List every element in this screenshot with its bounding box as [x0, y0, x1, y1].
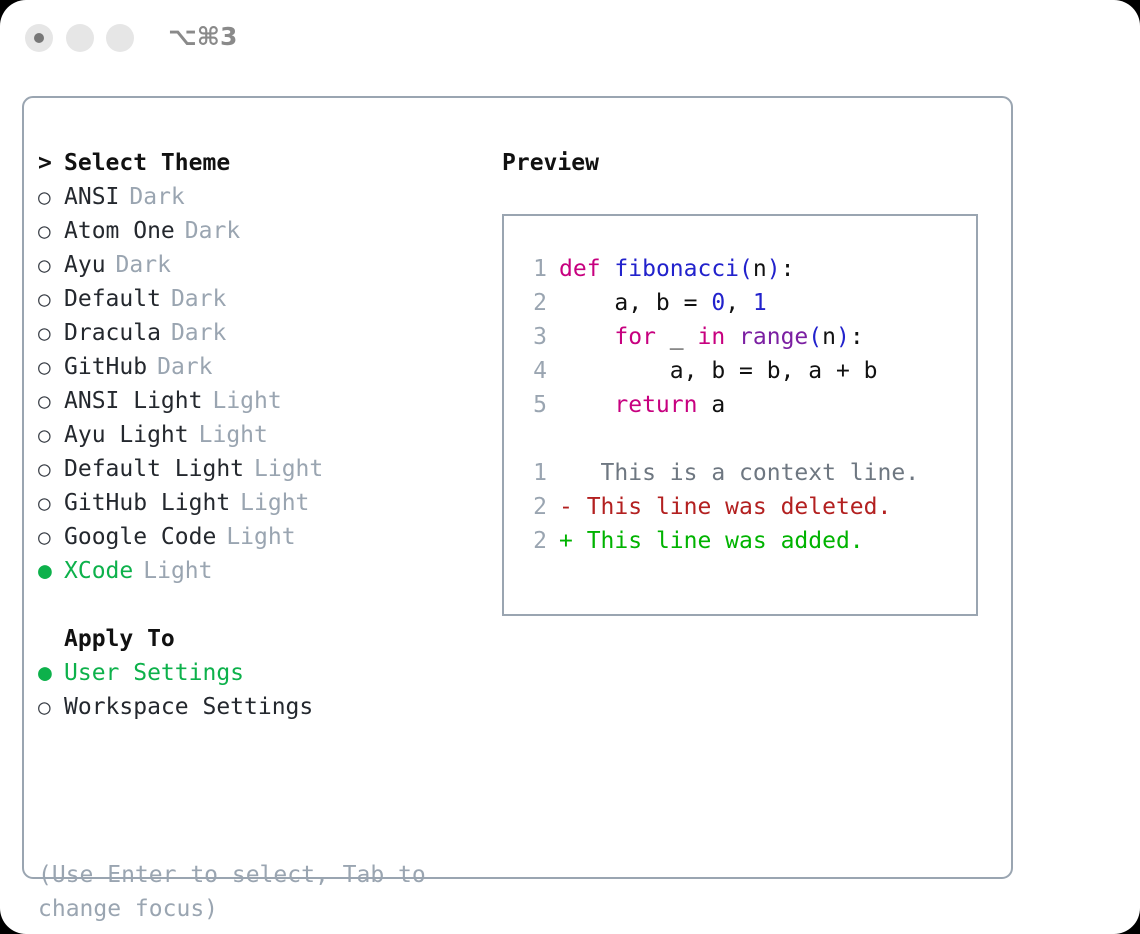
theme-variant-badge: Light: [199, 418, 268, 452]
code-token: for: [614, 324, 656, 350]
diff-text: This line was added.: [573, 524, 864, 558]
theme-name: ANSI: [64, 180, 119, 214]
theme-variant-badge: Light: [212, 384, 281, 418]
theme-variant-badge: Light: [226, 520, 295, 554]
radio-unselected-icon: ○: [38, 452, 64, 486]
theme-variant-badge: Dark: [129, 180, 184, 214]
theme-name: Dracula: [64, 316, 161, 350]
theme-option[interactable]: ○ANSIDark: [38, 180, 478, 214]
code-diff-gap: [504, 422, 976, 456]
code-token: a: [697, 392, 725, 418]
apply-to-indent: ○: [38, 622, 64, 656]
theme-option[interactable]: ○ANSI LightLight: [38, 384, 478, 418]
diff-sample: 1 This is a context line.2- This line wa…: [504, 456, 976, 558]
code-token: range: [739, 324, 808, 350]
code-token: a, b = b, a + b: [559, 358, 878, 384]
line-number: 1: [517, 252, 547, 286]
code-token: (: [808, 324, 822, 350]
code-token: :: [850, 324, 864, 350]
keyboard-hint-text: (Use Enter to select, Tab to change focu…: [38, 858, 458, 926]
apply-to-title: Apply To: [64, 622, 175, 656]
code-token: _: [656, 324, 698, 350]
theme-option[interactable]: ○Google CodeLight: [38, 520, 478, 554]
line-number: 1: [517, 456, 547, 490]
diff-line: 1 This is a context line.: [504, 456, 976, 490]
code-token: [725, 324, 739, 350]
diff-line: 2+ This line was added.: [504, 524, 976, 558]
theme-name: Ayu: [64, 248, 106, 282]
radio-unselected-icon: ○: [38, 520, 64, 554]
window-dot-third[interactable]: [106, 24, 134, 52]
radio-unselected-icon: ○: [38, 248, 64, 282]
preview-box: 1def fibonacci(n):2 a, b = 0, 13 for _ i…: [502, 214, 978, 616]
code-line: 2 a, b = 0, 1: [504, 286, 976, 320]
app-window: ⌥⌘3 > Select Theme ○ANSIDark○Atom OneDar…: [0, 0, 1140, 934]
theme-variant-badge: Dark: [171, 316, 226, 350]
radio-unselected-icon: ○: [38, 350, 64, 384]
code-text: for _ in range(n):: [559, 320, 864, 354]
apply-to-option[interactable]: ○Workspace Settings: [38, 690, 478, 724]
title-bar: ⌥⌘3: [0, 0, 1140, 78]
code-line: 3 for _ in range(n):: [504, 320, 976, 354]
theme-option[interactable]: ○GitHub LightLight: [38, 486, 478, 520]
diff-line: 2- This line was deleted.: [504, 490, 976, 524]
theme-option[interactable]: ○Ayu LightLight: [38, 418, 478, 452]
radio-unselected-icon: ○: [38, 180, 64, 214]
theme-name: ANSI Light: [64, 384, 202, 418]
code-token: [559, 324, 614, 350]
theme-option[interactable]: ○DefaultDark: [38, 282, 478, 316]
line-number: 3: [517, 320, 547, 354]
apply-to-header: ○ Apply To: [38, 622, 478, 656]
code-text: a, b = b, a + b: [559, 354, 878, 388]
theme-option[interactable]: ○DraculaDark: [38, 316, 478, 350]
diff-text: This line was deleted.: [573, 490, 892, 524]
theme-name: Default: [64, 282, 161, 316]
code-token: return: [614, 392, 697, 418]
theme-list: ○ANSIDark○Atom OneDark○AyuDark○DefaultDa…: [38, 180, 478, 588]
code-token: ): [767, 256, 781, 282]
theme-variant-badge: Light: [143, 554, 212, 588]
window-dot-active-inner: [34, 33, 44, 43]
line-number: 2: [517, 490, 547, 524]
theme-option[interactable]: ○Default LightLight: [38, 452, 478, 486]
apply-to-label: Workspace Settings: [64, 690, 313, 724]
theme-option[interactable]: ○GitHubDark: [38, 350, 478, 384]
diff-marker: [559, 456, 573, 490]
theme-variant-badge: Light: [254, 452, 323, 486]
radio-unselected-icon: ○: [38, 384, 64, 418]
theme-selector-column: > Select Theme ○ANSIDark○Atom OneDark○Ay…: [38, 146, 478, 724]
code-token: ): [836, 324, 850, 350]
code-token: n: [822, 324, 836, 350]
window-dot-second[interactable]: [66, 24, 94, 52]
line-number: 5: [517, 388, 547, 422]
radio-unselected-icon: ○: [38, 214, 64, 248]
theme-variant-badge: Dark: [185, 214, 240, 248]
code-token: fibonacci: [614, 256, 739, 282]
theme-option[interactable]: ○Atom OneDark: [38, 214, 478, 248]
code-token: (: [739, 256, 753, 282]
radio-selected-icon: ●: [38, 656, 64, 690]
code-line: 5 return a: [504, 388, 976, 422]
radio-unselected-icon: ○: [38, 690, 64, 724]
line-number: 2: [517, 286, 547, 320]
radio-unselected-icon: ○: [38, 316, 64, 350]
code-token: in: [697, 324, 725, 350]
code-token: 0: [711, 290, 725, 316]
code-token: [559, 392, 614, 418]
theme-option[interactable]: ●XCodeLight: [38, 554, 478, 588]
code-text: return a: [559, 388, 725, 422]
code-sample: 1def fibonacci(n):2 a, b = 0, 13 for _ i…: [504, 252, 976, 422]
code-line: 4 a, b = b, a + b: [504, 354, 976, 388]
diff-marker: +: [559, 524, 573, 558]
code-token: [601, 256, 615, 282]
theme-name: GitHub Light: [64, 486, 230, 520]
select-theme-header: > Select Theme: [38, 146, 478, 180]
apply-to-label: User Settings: [64, 656, 244, 690]
keyboard-shortcut-label: ⌥⌘3: [168, 22, 237, 51]
theme-name: XCode: [64, 554, 133, 588]
preview-title: Preview: [502, 146, 992, 180]
code-token: n: [753, 256, 767, 282]
theme-name: Atom One: [64, 214, 175, 248]
line-number: 2: [517, 524, 547, 558]
code-token: ,: [725, 290, 753, 316]
theme-variant-badge: Dark: [116, 248, 171, 282]
code-line: 1def fibonacci(n):: [504, 252, 976, 286]
diff-marker: -: [559, 490, 573, 524]
apply-to-options: ●User Settings○Workspace Settings: [38, 656, 478, 724]
code-text: a, b = 0, 1: [559, 286, 767, 320]
diff-text: This is a context line.: [573, 456, 919, 490]
radio-unselected-icon: ○: [38, 486, 64, 520]
theme-variant-badge: Dark: [157, 350, 212, 384]
theme-option[interactable]: ○AyuDark: [38, 248, 478, 282]
theme-name: GitHub: [64, 350, 147, 384]
window-dot-active[interactable]: [25, 24, 53, 52]
code-token: a, b =: [559, 290, 711, 316]
radio-unselected-icon: ○: [38, 418, 64, 452]
radio-unselected-icon: ○: [38, 282, 64, 316]
code-token: def: [559, 256, 601, 282]
theme-name: Google Code: [64, 520, 216, 554]
radio-selected-icon: ●: [38, 554, 64, 588]
theme-name: Ayu Light: [64, 418, 189, 452]
main-panel: > Select Theme ○ANSIDark○Atom OneDark○Ay…: [22, 96, 1013, 879]
theme-name: Default Light: [64, 452, 244, 486]
list-spacer: [38, 588, 478, 622]
preview-column: Preview 1def fibonacci(n):2 a, b = 0, 13…: [502, 146, 992, 616]
code-text: def fibonacci(n):: [559, 252, 794, 286]
caret-icon: >: [38, 146, 64, 180]
theme-variant-badge: Light: [240, 486, 309, 520]
select-theme-title: Select Theme: [64, 146, 230, 180]
theme-variant-badge: Dark: [171, 282, 226, 316]
code-token: 1: [753, 290, 767, 316]
code-token: :: [781, 256, 795, 282]
line-number: 4: [517, 354, 547, 388]
apply-to-option[interactable]: ●User Settings: [38, 656, 478, 690]
